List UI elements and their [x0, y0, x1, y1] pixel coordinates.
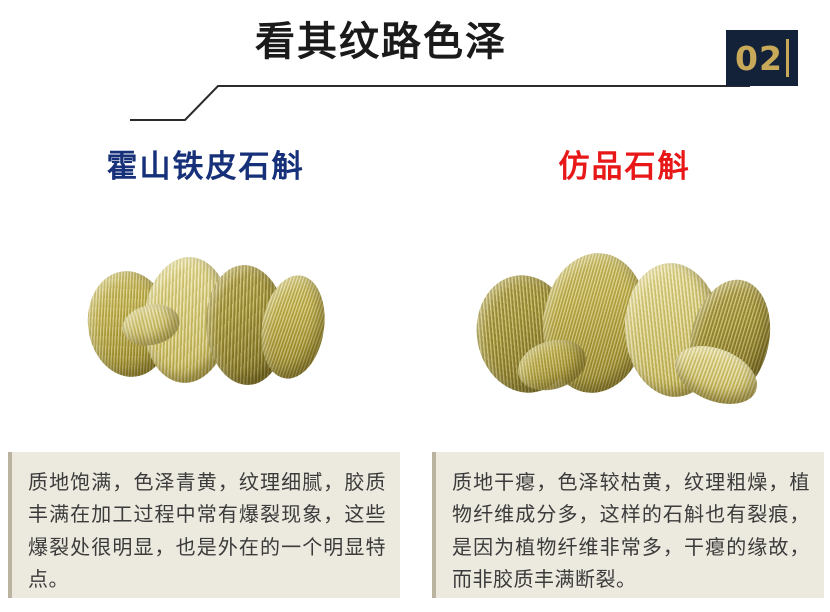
caption-text-genuine: 质地饱满，色泽青黄，纹理细腻，胶质丰满在加工过程中常有爆裂现象，这些爆裂处很明显…: [28, 466, 386, 596]
product-photo-genuine: [86, 245, 326, 410]
page-title: 看其纹路色泽: [255, 22, 507, 62]
title-underline-decoration: [130, 82, 750, 122]
comparison-column-genuine: 霍山铁皮石斛: [8, 150, 403, 450]
column-title-genuine: 霍山铁皮石斛: [8, 150, 403, 184]
caption-text-counterfeit: 质地干瘪，色泽较枯黄，纹理粗燥，植物纤维成分多，这样的石斛也有裂痕，是因为植物纤…: [452, 466, 810, 596]
section-number-badge: 02: [726, 30, 798, 86]
column-title-counterfeit: 仿品石斛: [427, 150, 822, 184]
badge-accent-bar: [786, 39, 789, 77]
page-header: 看其纹路色泽 02: [0, 0, 830, 135]
section-number-label: 02: [735, 42, 789, 75]
comparison-column-counterfeit: 仿品石斛: [427, 150, 822, 450]
caption-box-genuine: 质地饱满，色泽青黄，纹理细腻，胶质丰满在加工过程中常有爆裂现象，这些爆裂处很明显…: [8, 452, 400, 598]
product-photo-counterfeit: [477, 245, 777, 430]
caption-box-counterfeit: 质地干瘪，色泽较枯黄，纹理粗燥，植物纤维成分多，这样的石斛也有裂痕，是因为植物纤…: [432, 452, 824, 598]
